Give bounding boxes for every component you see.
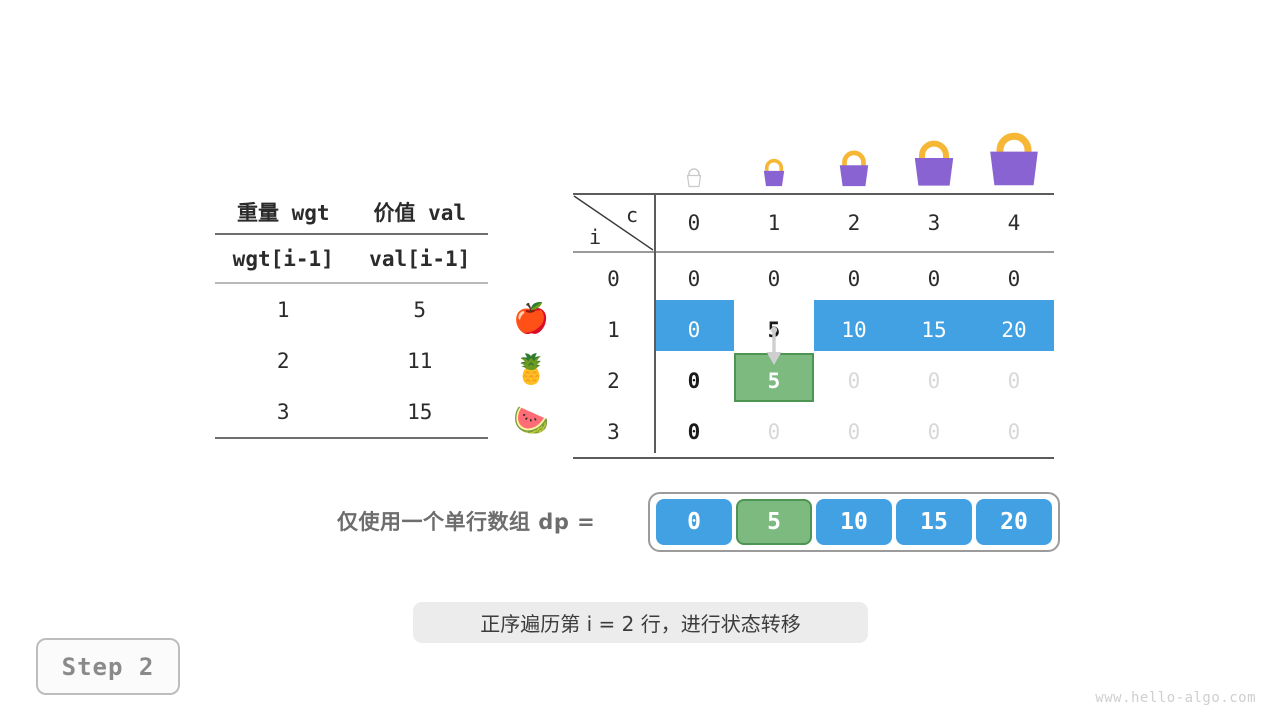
dp-array-label: 仅使用一个单行数组 dp = — [337, 506, 595, 536]
state-transition-arrow — [762, 325, 786, 369]
left-table-subheader-row: wgt[i-1] val[i-1] — [215, 235, 488, 282]
left-table-wgt-2: 2 — [215, 349, 352, 373]
dp-cell-0-2: 0 — [814, 267, 894, 291]
dp-cell-3-3: 0 — [894, 420, 974, 444]
dp-cell-3-2: 0 — [814, 420, 894, 444]
left-table-wgt-1: 1 — [215, 298, 352, 322]
dp-cell-1-3: 15 — [894, 318, 974, 342]
dp-col-header-4: 4 — [974, 211, 1054, 235]
dp-cell-0-4: 0 — [974, 267, 1054, 291]
dp-col-header-2: 2 — [814, 211, 894, 235]
bag-size-2-icon — [814, 128, 894, 188]
dp-cell-0-0: 0 — [654, 267, 734, 291]
apple-icon: 🍎 — [500, 293, 562, 344]
dp-cell-3-0: 0 — [654, 420, 734, 444]
dp-row-3: 3 0 0 0 0 0 — [573, 406, 1054, 457]
left-table-row-1: 1 5 — [215, 284, 488, 335]
step-caption: 正序遍历第 i = 2 行，进行状态转移 — [413, 602, 868, 643]
watermark: www.hello-algo.com — [1095, 690, 1256, 706]
dp-col-header-0: 0 — [654, 211, 734, 235]
left-table-rule-bottom — [215, 437, 488, 439]
left-table-row-2: 2 11 — [215, 335, 488, 386]
left-table-val-1: 5 — [352, 298, 489, 322]
left-table-val-3: 15 — [352, 400, 489, 424]
bag-size-0-icon — [654, 128, 734, 188]
dp-row-label-3: 3 — [573, 420, 654, 444]
bag-capacity-icon-row — [573, 128, 1054, 188]
dp-cell-0-1: 0 — [734, 267, 814, 291]
dp-matrix-table: c i 0 1 2 3 4 0 0 0 0 0 0 1 0 5 10 15 20 — [573, 193, 1054, 459]
dp-cell-2-1: 5 — [734, 369, 814, 393]
left-table-val-2: 11 — [352, 349, 489, 373]
dp-array-cell-2: 10 — [816, 499, 892, 545]
bag-size-3-icon — [894, 128, 974, 188]
dp-cell-2-2: 0 — [814, 369, 894, 393]
dp-array-cell-4: 20 — [976, 499, 1052, 545]
dp-array-cell-0: 0 — [656, 499, 732, 545]
weight-value-table: 重量 wgt 价值 val wgt[i-1] val[i-1] 1 5 2 11… — [215, 190, 488, 439]
bag-size-1-icon — [734, 128, 814, 188]
dp-cell-3-4: 0 — [974, 420, 1054, 444]
left-table-row-3: 3 15 — [215, 386, 488, 437]
dp-cell-2-3: 0 — [894, 369, 974, 393]
dp-array-cell-1: 5 — [736, 499, 812, 545]
dp-corner-row-label: i — [589, 225, 601, 249]
pineapple-icon: 🍍 — [500, 344, 562, 395]
dp-array-cell-3: 15 — [896, 499, 972, 545]
dp-array-container: 0 5 10 15 20 — [648, 492, 1060, 552]
dp-cell-2-0: 0 — [654, 369, 734, 393]
left-table-subheader-val: val[i-1] — [352, 247, 489, 271]
dp-row-0: 0 0 0 0 0 0 — [573, 253, 1054, 304]
dp-cell-3-1: 0 — [734, 420, 814, 444]
bag-icon-slot-empty — [573, 128, 654, 188]
dp-col-header-3: 3 — [894, 211, 974, 235]
left-table-wgt-3: 3 — [215, 400, 352, 424]
dp-table-corner-cell: c i — [573, 195, 654, 251]
dp-row-label-0: 0 — [573, 267, 654, 291]
dp-cell-0-3: 0 — [894, 267, 974, 291]
dp-cell-2-4: 0 — [974, 369, 1054, 393]
left-table-subheader-wgt: wgt[i-1] — [215, 247, 352, 271]
dp-row-label-1: 1 — [573, 318, 654, 342]
slide-canvas: 重量 wgt 价值 val wgt[i-1] val[i-1] 1 5 2 11… — [0, 0, 1280, 720]
dp-cell-1-2: 10 — [814, 318, 894, 342]
watermelon-icon: 🍉 — [500, 395, 562, 446]
fruit-icon-column: 🍎 🍍 🍉 — [500, 293, 562, 446]
dp-row-label-2: 2 — [573, 369, 654, 393]
left-table-header-val: 价值 val — [352, 197, 489, 227]
dp-corner-col-label: c — [626, 203, 638, 227]
dp-cell-1-0: 0 — [654, 318, 734, 342]
dp-table-rule-bottom — [573, 457, 1054, 459]
dp-col-header-1: 1 — [734, 211, 814, 235]
left-table-header-wgt: 重量 wgt — [215, 197, 352, 227]
bag-size-4-icon — [974, 128, 1054, 188]
step-badge: Step 2 — [36, 638, 180, 695]
dp-table-header-row: c i 0 1 2 3 4 — [573, 195, 1054, 251]
left-table-header-row: 重量 wgt 价值 val — [215, 190, 488, 233]
dp-cell-1-4: 20 — [974, 318, 1054, 342]
